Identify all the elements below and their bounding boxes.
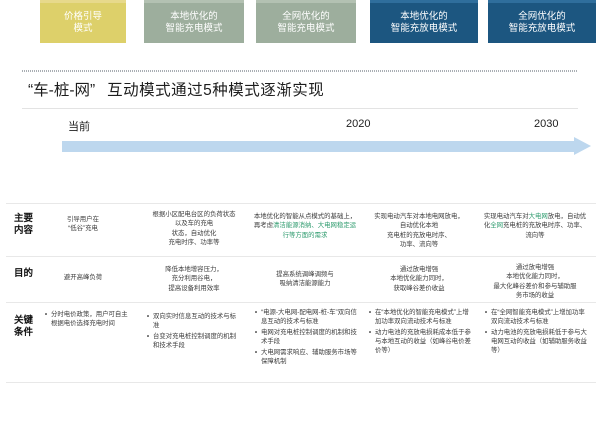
cell-purpose-col3: 提高系统调峰调频与 吸纳清洁能源能力	[252, 270, 358, 289]
cell-main-col2: 根据小区配电台区的负荷状态 以及车的充电 状态，自动优化 充电时序、功率等	[144, 210, 244, 247]
mode-card-line1: 价格引导	[64, 11, 102, 23]
page-title: “车-桩-网”互动模式通过5种模式逐渐实现	[28, 78, 588, 100]
row-divider-4	[6, 382, 596, 383]
cell-main-col3: 本地优化的智能从点模式的基础上，再考虑清洁能源消纳、大电网稳定运行等方面的需求	[252, 212, 358, 240]
row-divider-1	[6, 203, 596, 204]
timeline-label-2030: 2030	[534, 118, 558, 130]
mode-card-line2: 智能充电模式	[277, 23, 334, 35]
mode-card-line1: 本地优化的	[165, 11, 222, 23]
row-divider-2	[6, 256, 596, 257]
cell-main-col1: 引导用户在 “低谷”充电	[40, 215, 126, 234]
page-title-rest: 互动模式通过5种模式逐渐实现	[107, 82, 324, 99]
list-item: “电源-大电网-配电网-桩-车”双向信息互动的技术与标准	[254, 308, 358, 326]
timeline-label-2020: 2020	[346, 118, 370, 130]
timeline-label-current: 当前	[68, 118, 90, 134]
page-title-quoted: “车-桩-网”	[28, 82, 95, 99]
mode-card-grid-smart-v2g[interactable]: 全网优化的 智能充放电模式	[488, 0, 596, 43]
mode-card-line1: 本地优化的	[391, 11, 458, 23]
cell-purpose-col1: 避开高峰负荷	[40, 273, 126, 282]
list-item: 分时电价政策，用户可自主根据电价选择充电时间	[44, 310, 128, 328]
mode-card-local-smart-charging[interactable]: 本地优化的 智能充电模式	[144, 0, 244, 43]
mode-card-line1: 全网优化的	[277, 11, 334, 23]
cell-main-col3-highlight: 清洁能源消纳、大电网稳定运行等方面的需求	[273, 222, 356, 238]
mode-card-line2: 模式	[64, 23, 102, 35]
row-divider-3	[6, 302, 596, 303]
mode-card-line1: 全网优化的	[509, 11, 576, 23]
cell-main-col4: 实现电动汽车对本地电网放电， 自动优化本地 充电桩的充放电时序、 功率、流向等	[366, 212, 472, 249]
cell-key-col1: 分时电价政策，用户可自主根据电价选择充电时间	[44, 310, 128, 330]
mode-card-grid-smart-charging[interactable]: 全网优化的 智能充电模式	[256, 0, 356, 43]
cell-main-col5-highlight-1: 大电网	[529, 213, 548, 220]
cell-main-col5: 实现电动汽车对大电网放电，自动优化全网充电桩的充放电时序、功率、流向等	[482, 212, 588, 240]
cell-key-col5: 在“全网智能充电模式”上增加功率双向流动技术与标准 动力电池的充放电损耗低于参与…	[484, 308, 588, 357]
timeline-labels: 当前 2020 2030	[0, 118, 600, 134]
cell-key-col2: 双向实时信息互动的技术与标准 台变对充电桩控制调度的机制和技术手段	[146, 312, 242, 352]
mode-card-line2: 智能充放电模式	[391, 23, 458, 35]
mode-card-line2: 智能充放电模式	[509, 23, 576, 35]
cell-purpose-col4: 通过放电增强 本地优化能力同时， 获取峰谷差价收益	[366, 265, 472, 293]
list-item: 在“本地优化的智能充电模式”上增加功率双向流动技术与标准	[368, 308, 472, 326]
slide-root: “车-桩-网”互动模式通过5种模式逐渐实现 当前 2020 2030 价格引导 …	[0, 0, 600, 423]
mode-card-local-smart-v2g[interactable]: 本地优化的 智能充放电模式	[370, 0, 478, 43]
cell-key-col4: 在“本地优化的智能充电模式”上增加功率双向流动技术与标准 动力电池的充放电损耗成…	[368, 308, 472, 357]
list-item: 在“全网智能充电模式”上增加功率双向流动技术与标准	[484, 308, 588, 326]
mode-card-line2: 智能充电模式	[165, 23, 222, 35]
title-underline	[22, 108, 578, 109]
mode-header-cards: 价格引导 模式 本地优化的 智能充电模式 全网优化的 智能充电模式 本地优化的 …	[40, 0, 596, 44]
top-dotted-divider	[22, 70, 578, 72]
cell-purpose-col5: 通过放电增强 本地优化能力同时， 最大化峰谷差价和参与辅助服 务市场的收益	[482, 263, 588, 300]
mode-card-price-guided[interactable]: 价格引导 模式	[40, 0, 126, 43]
cell-key-col3: “电源-大电网-配电网-桩-车”双向信息互动的技术与标准 电网对充电桩控制调度的…	[254, 308, 358, 369]
list-item: 电网对充电桩控制调度的机制和技术手段	[254, 328, 358, 346]
timeline-arrow	[62, 141, 574, 152]
cell-main-col5-highlight-2: 全网	[490, 222, 503, 229]
list-item: 动力电池的充放电损耗低于参与大电网互动的收益（如辅助服务收益等）	[484, 328, 588, 355]
list-item: 动力电池的充放电损耗成本低于参与本地互动的收益（如峰谷电价差价等）	[368, 328, 472, 355]
list-item: 台变对充电桩控制调度的机制和技术手段	[146, 332, 242, 350]
cell-purpose-col2: 降低本地增容压力， 充分利用谷电， 提高设备利用效率	[144, 265, 244, 293]
list-item: 双向实时信息互动的技术与标准	[146, 312, 242, 330]
list-item: 大电网需求响应、辅助服务市场等保障机制	[254, 348, 358, 366]
